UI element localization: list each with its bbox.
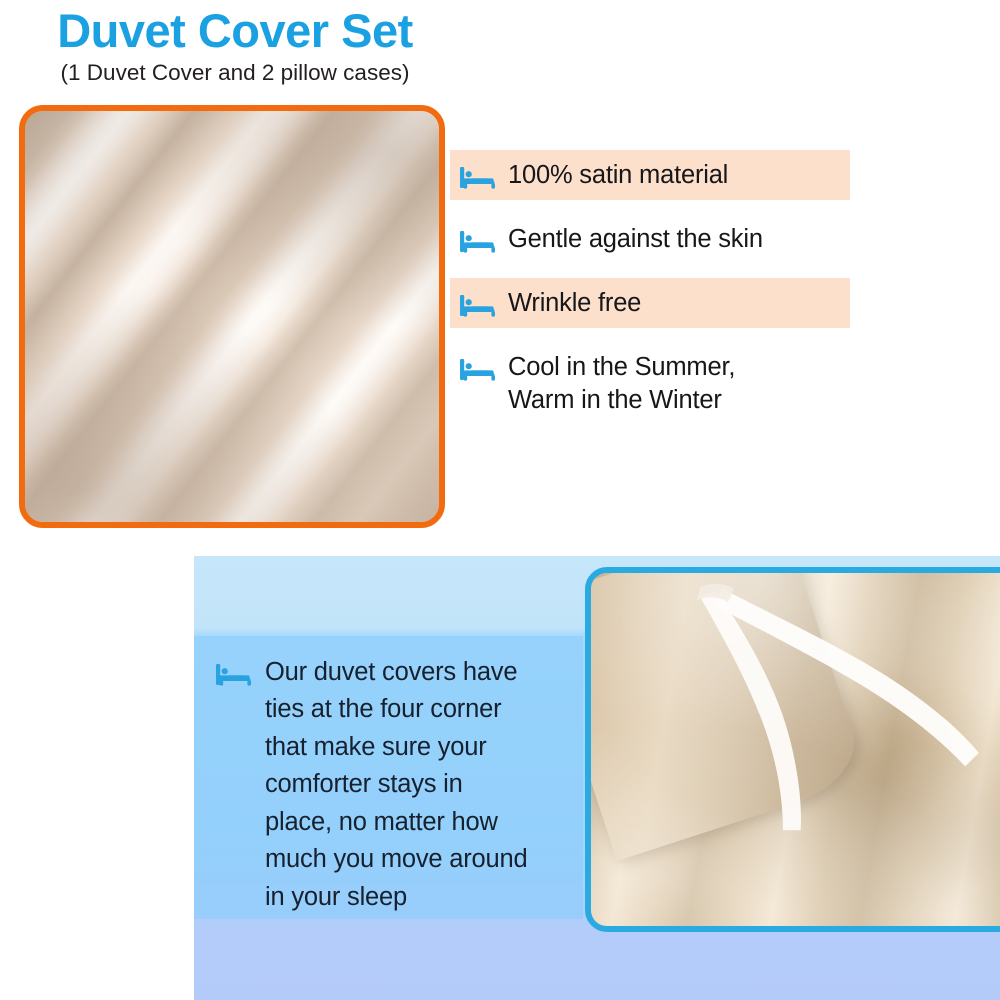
bed-icon — [460, 356, 496, 382]
bed-icon — [460, 164, 496, 190]
ribbon-ties-icon — [591, 573, 1000, 926]
feature-label: Wrinkle free — [508, 287, 641, 319]
feature-item: Gentle against the skin — [450, 214, 850, 264]
satin-fabric-shading — [25, 111, 439, 522]
feature-item: 100% satin material — [450, 150, 850, 200]
header: Duvet Cover Set (1 Duvet Cover and 2 pil… — [0, 6, 470, 86]
feature-label: Gentle against the skin — [508, 223, 763, 255]
bed-icon — [460, 228, 496, 254]
page-subtitle: (1 Duvet Cover and 2 pillow cases) — [0, 61, 470, 86]
tie-detail-photo — [585, 567, 1000, 932]
feature-label: Cool in the Summer, Warm in the Winter — [508, 351, 735, 415]
product-photo — [19, 105, 445, 528]
feature-list: 100% satin material Gentle against the s… — [450, 150, 850, 439]
bed-icon — [216, 661, 252, 687]
feature-label: 100% satin material — [508, 159, 728, 191]
tie-feature-panel: Our duvet covers have ties at the four c… — [194, 556, 1000, 1000]
bed-icon — [460, 292, 496, 318]
infographic-page: Duvet Cover Set (1 Duvet Cover and 2 pil… — [0, 0, 1000, 1000]
feature-item: Cool in the Summer, Warm in the Winter — [450, 342, 850, 424]
tie-note-text: Our duvet covers have ties at the four c… — [265, 654, 527, 916]
page-title: Duvet Cover Set — [0, 6, 470, 55]
feature-item: Wrinkle free — [450, 278, 850, 328]
tie-note-block: Our duvet covers have ties at the four c… — [194, 636, 583, 919]
